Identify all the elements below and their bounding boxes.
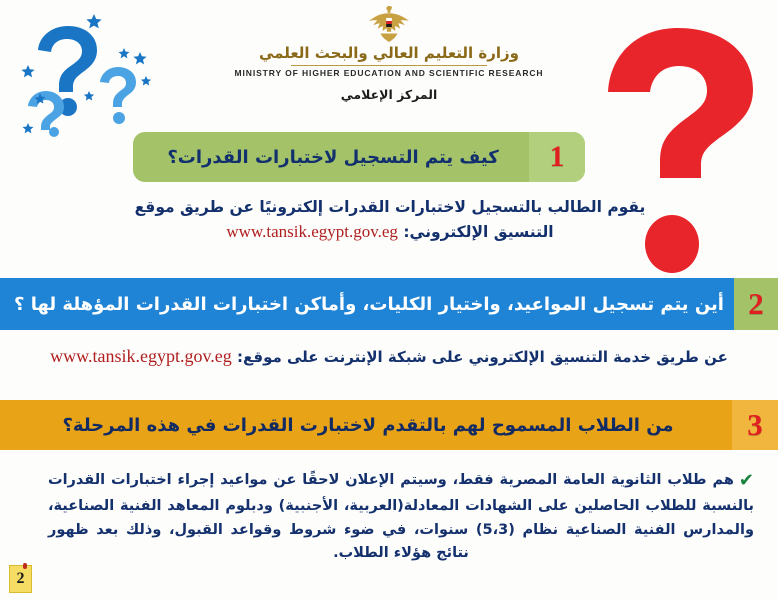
blue-question-marks-icon [6, 8, 161, 143]
infographic-page: وزارة التعليم العالي والبحث العلمي MINIS… [0, 0, 778, 600]
page-number: 2 [17, 570, 25, 588]
question-text-3: من الطلاب المسموح لهم بالتقدم لاختبارت ا… [0, 400, 732, 450]
answer-3: ✔هم طلاب الثانوية العامة المصرية فقط، وس… [48, 466, 754, 566]
egypt-eagle-emblem-icon [367, 4, 411, 44]
question-text-2: أين يتم تسجيل المواعيد، واختيار الكليات،… [0, 278, 734, 330]
question-bar-3[interactable]: 3 من الطلاب المسموح لهم بالتقدم لاختبارت… [0, 400, 778, 450]
pin-icon [23, 563, 27, 569]
answer-1: يقوم الطالب بالتسجيل لاختبارات القدرات إ… [110, 196, 670, 245]
question-bar-2[interactable]: 2 أين يتم تسجيل المواعيد، واختيار الكليا… [0, 278, 778, 330]
answer-2-text: عن طريق خدمة التنسيق الإلكتروني على شبكة… [237, 348, 728, 366]
question-number-1: 1 [529, 132, 585, 182]
answer-2-url[interactable]: www.tansik.egypt.gov.eg [50, 346, 232, 366]
header-divider [291, 65, 487, 66]
check-mark-icon: ✔ [739, 466, 754, 495]
answer-3-text: هم طلاب الثانوية العامة المصرية فقط، وسي… [48, 472, 754, 561]
question-number-3: 3 [732, 400, 778, 450]
question-number-2: 2 [734, 278, 778, 330]
question-text-1: كيف يتم التسجيل لاختبارات القدرات؟ [133, 132, 529, 182]
question-bar-1[interactable]: 1 كيف يتم التسجيل لاختبارات القدرات؟ [133, 132, 585, 182]
answer-1-url[interactable]: www.tansik.egypt.gov.eg [226, 222, 398, 241]
page-number-badge: 2 [9, 565, 32, 593]
answer-2: عن طريق خدمة التنسيق الإلكتروني على شبكة… [4, 343, 774, 370]
